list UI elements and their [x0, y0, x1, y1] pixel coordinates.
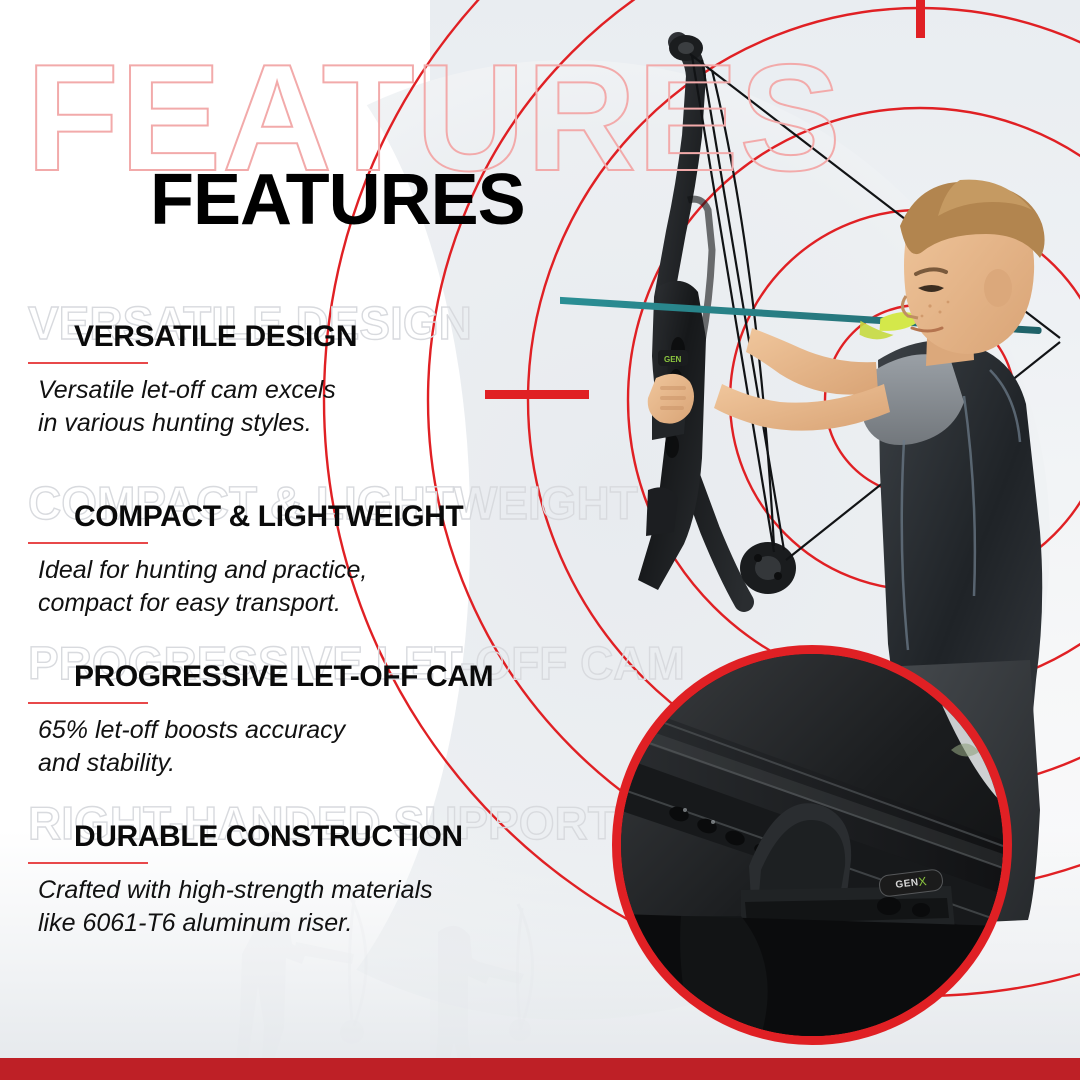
bottom-accent-bar	[0, 1058, 1080, 1080]
feature-underline	[28, 542, 148, 544]
svg-text:GEN: GEN	[664, 355, 682, 364]
feature-underline	[28, 862, 148, 864]
feature-underline	[28, 702, 148, 704]
page-title: FEATURES	[150, 164, 525, 236]
genx-accent-x: X	[918, 874, 928, 889]
feature-description: Crafted with high-strength materials lik…	[38, 874, 433, 940]
feature-title: VERSATILE DESIGN	[74, 322, 357, 352]
feature-title: PROGRESSIVE LET-OFF CAM	[74, 662, 493, 692]
crosshair-tick-top	[916, 0, 925, 38]
feature-title: COMPACT & LIGHTWEIGHT	[74, 502, 463, 532]
riser-closeup	[621, 654, 1003, 1036]
genx-label: GEN	[895, 877, 919, 891]
feature-description: Ideal for hunting and practice, compact …	[38, 554, 367, 620]
detail-inset-circle: GENX	[612, 645, 1012, 1045]
feature-description: 65% let-off boosts accuracy and stabilit…	[38, 714, 345, 780]
feature-underline	[28, 362, 148, 364]
feature-title: DURABLE CONSTRUCTION	[74, 822, 463, 852]
feature-description: Versatile let-off cam excels in various …	[38, 374, 336, 440]
infographic-canvas: GEN	[0, 0, 1080, 1080]
crosshair-tick-left	[485, 390, 589, 399]
